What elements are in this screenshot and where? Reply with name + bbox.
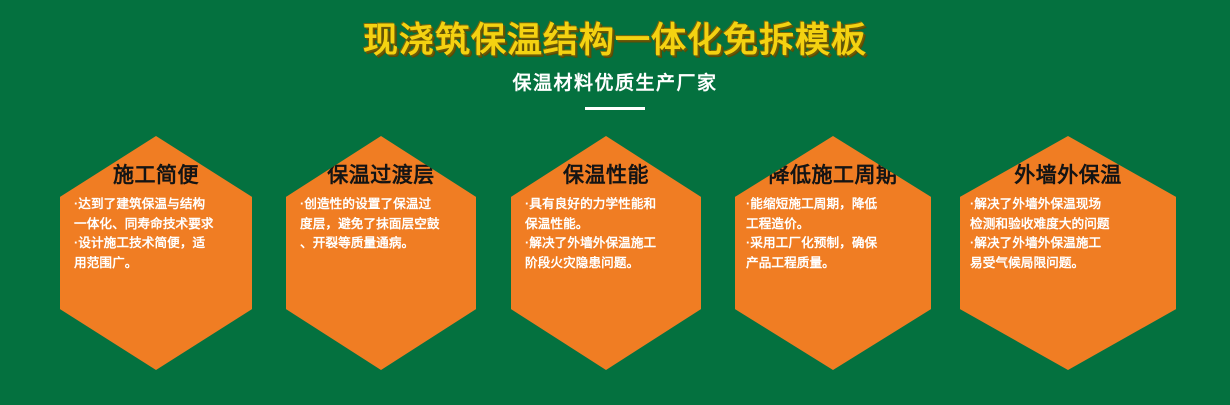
feature-body: ·达到了建筑保温与结构 一体化、同寿命技术要求 ·设计施工技术简便，适 用范围广… [60, 195, 252, 273]
feature-line: 工程造价。 [746, 215, 920, 235]
promo-banner: 现浇筑保温结构一体化免拆模板 保温材料优质生产厂家 施工简便 ·达到了建筑保温与… [0, 0, 1230, 405]
feature-line: 一体化、同寿命技术要求 [74, 215, 238, 235]
feature-title: 外墙外保温 [960, 162, 1176, 190]
feature-line: 阶段火灾隐患问题。 [525, 254, 687, 274]
feature-hexagon-2: 保温过渡层 ·创造性的设置了保温过 度层，避免了抹面层空鼓 、开裂等质量通病。 [286, 136, 476, 370]
feature-line: 、开裂等质量通病。 [300, 234, 462, 254]
feature-line: ·创造性的设置了保温过 [300, 195, 462, 215]
banner-header: 现浇筑保温结构一体化免拆模板 保温材料优质生产厂家 [0, 0, 1230, 110]
feature-hexagon-4: 降低施工周期 ·能缩短施工周期，降低 工程造价。 ·采用工厂化预制，确保 产品工… [735, 136, 931, 370]
feature-title: 保温过渡层 [286, 162, 476, 190]
feature-line: 保温性能。 [525, 215, 687, 235]
feature-line: ·能缩短施工周期，降低 [746, 195, 920, 215]
title-divider [585, 107, 645, 110]
feature-title: 保温性能 [511, 162, 701, 190]
feature-line: ·具有良好的力学性能和 [525, 195, 687, 215]
feature-line: 易受气候局限问题。 [970, 254, 1166, 274]
feature-line: ·解决了外墙外保温施工 [970, 234, 1166, 254]
page-subtitle: 保温材料优质生产厂家 [0, 71, 1230, 97]
feature-line: 用范围广。 [74, 254, 238, 274]
feature-line: 检测和验收难度大的问题 [970, 215, 1166, 235]
feature-line: ·达到了建筑保温与结构 [74, 195, 238, 215]
feature-hexagon-5: 外墙外保温 ·解决了外墙外保温现场 检测和验收难度大的问题 ·解决了外墙外保温施… [960, 136, 1176, 370]
page-title: 现浇筑保温结构一体化免拆模板 [0, 20, 1230, 62]
feature-hexagon-row: 施工简便 ·达到了建筑保温与结构 一体化、同寿命技术要求 ·设计施工技术简便，适… [0, 136, 1230, 405]
feature-line: ·解决了外墙外保温施工 [525, 234, 687, 254]
feature-body: ·创造性的设置了保温过 度层，避免了抹面层空鼓 、开裂等质量通病。 [286, 195, 476, 254]
feature-body: ·解决了外墙外保温现场 检测和验收难度大的问题 ·解决了外墙外保温施工 易受气候… [960, 195, 1176, 273]
feature-line: ·解决了外墙外保温现场 [970, 195, 1166, 215]
feature-line: ·采用工厂化预制，确保 [746, 234, 920, 254]
feature-line: 度层，避免了抹面层空鼓 [300, 215, 462, 235]
feature-line: 产品工程质量。 [746, 254, 920, 274]
feature-hexagon-3: 保温性能 ·具有良好的力学性能和 保温性能。 ·解决了外墙外保温施工 阶段火灾隐… [511, 136, 701, 370]
feature-hexagon-1: 施工简便 ·达到了建筑保温与结构 一体化、同寿命技术要求 ·设计施工技术简便，适… [60, 136, 252, 370]
feature-body: ·具有良好的力学性能和 保温性能。 ·解决了外墙外保温施工 阶段火灾隐患问题。 [511, 195, 701, 273]
feature-line: ·设计施工技术简便，适 [74, 234, 238, 254]
feature-title: 降低施工周期 [735, 162, 931, 190]
feature-title: 施工简便 [60, 162, 252, 190]
feature-body: ·能缩短施工周期，降低 工程造价。 ·采用工厂化预制，确保 产品工程质量。 [735, 195, 931, 273]
